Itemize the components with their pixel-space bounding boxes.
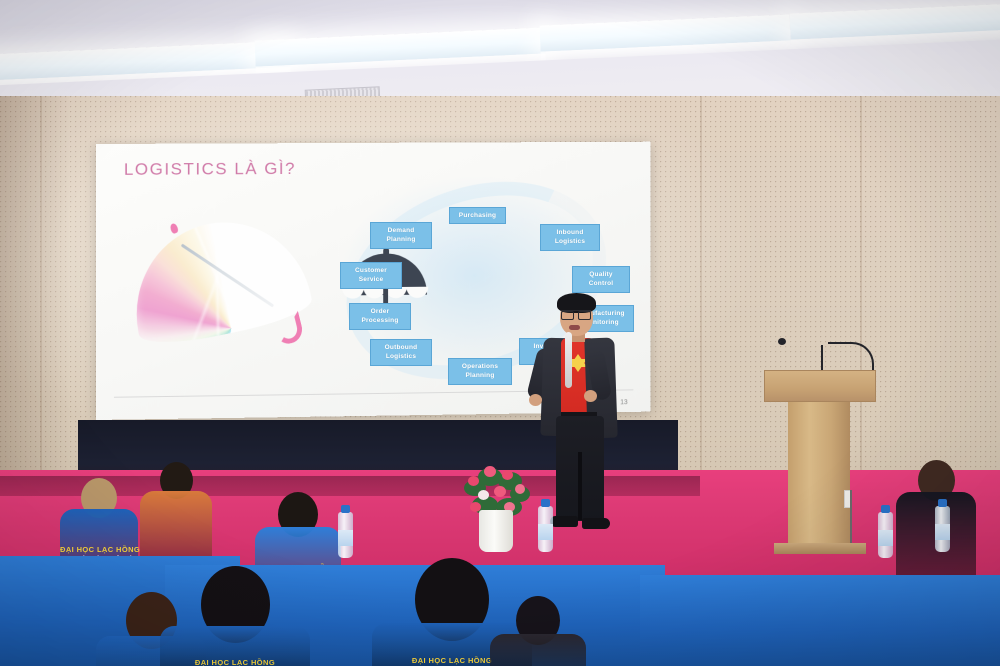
- audience-member-blue-tee-1: ĐẠI HỌC LẠC HỒNGKHOA TÀI CHÍNH - KẾ TOÁN: [160, 566, 310, 666]
- slide-label: Inbound Logistics: [540, 224, 600, 251]
- tshirt-primary-text: ĐẠI HỌC LẠC HỒNG: [60, 545, 138, 554]
- microphone-head-icon: [778, 338, 786, 345]
- podium-top: [764, 370, 876, 402]
- rainbow-umbrella-photo: [124, 214, 331, 375]
- water-bottle: [935, 506, 950, 552]
- podium-column: [788, 402, 850, 547]
- eyeglasses-icon: [561, 310, 591, 317]
- slide-label: Operations Planning: [448, 358, 512, 385]
- slide-label: Demand Planning: [370, 222, 432, 249]
- slide-label: Purchasing: [449, 207, 506, 224]
- slide-label: Outbound Logistics: [370, 339, 432, 366]
- slide-label: Quality Control: [572, 266, 630, 293]
- podium: [764, 340, 876, 560]
- slide-title: LOGISTICS LÀ GÌ?: [124, 159, 296, 180]
- gooseneck-microphone: [828, 342, 874, 372]
- audience-member-dark-top: [490, 596, 586, 666]
- podium-cable: [850, 490, 852, 548]
- handheld-microphone: [565, 332, 572, 388]
- speaker-shoe: [582, 518, 610, 529]
- slide-label: Order Processing: [349, 303, 411, 330]
- water-bottle: [878, 512, 893, 558]
- microphone-stem: [821, 345, 823, 373]
- podium-base: [774, 543, 866, 554]
- audience-torso: [490, 634, 586, 666]
- tshirt-primary-text: ĐẠI HỌC LẠC HỒNG: [160, 658, 310, 666]
- water-bottle: [338, 512, 353, 558]
- speaker-shoe: [550, 516, 578, 527]
- flower-vase: [479, 510, 513, 552]
- speaker-left-hand: [529, 394, 542, 406]
- lecture-hall-scene: LOGISTICS LÀ GÌ? 13 PurchasingDemand P: [0, 0, 1000, 666]
- speaker-mouth: [569, 325, 580, 330]
- water-bottle: [538, 506, 553, 552]
- speaker-right-hand: [584, 390, 597, 402]
- audience-table: [640, 575, 1000, 666]
- slide-label: Customer Service: [340, 262, 402, 289]
